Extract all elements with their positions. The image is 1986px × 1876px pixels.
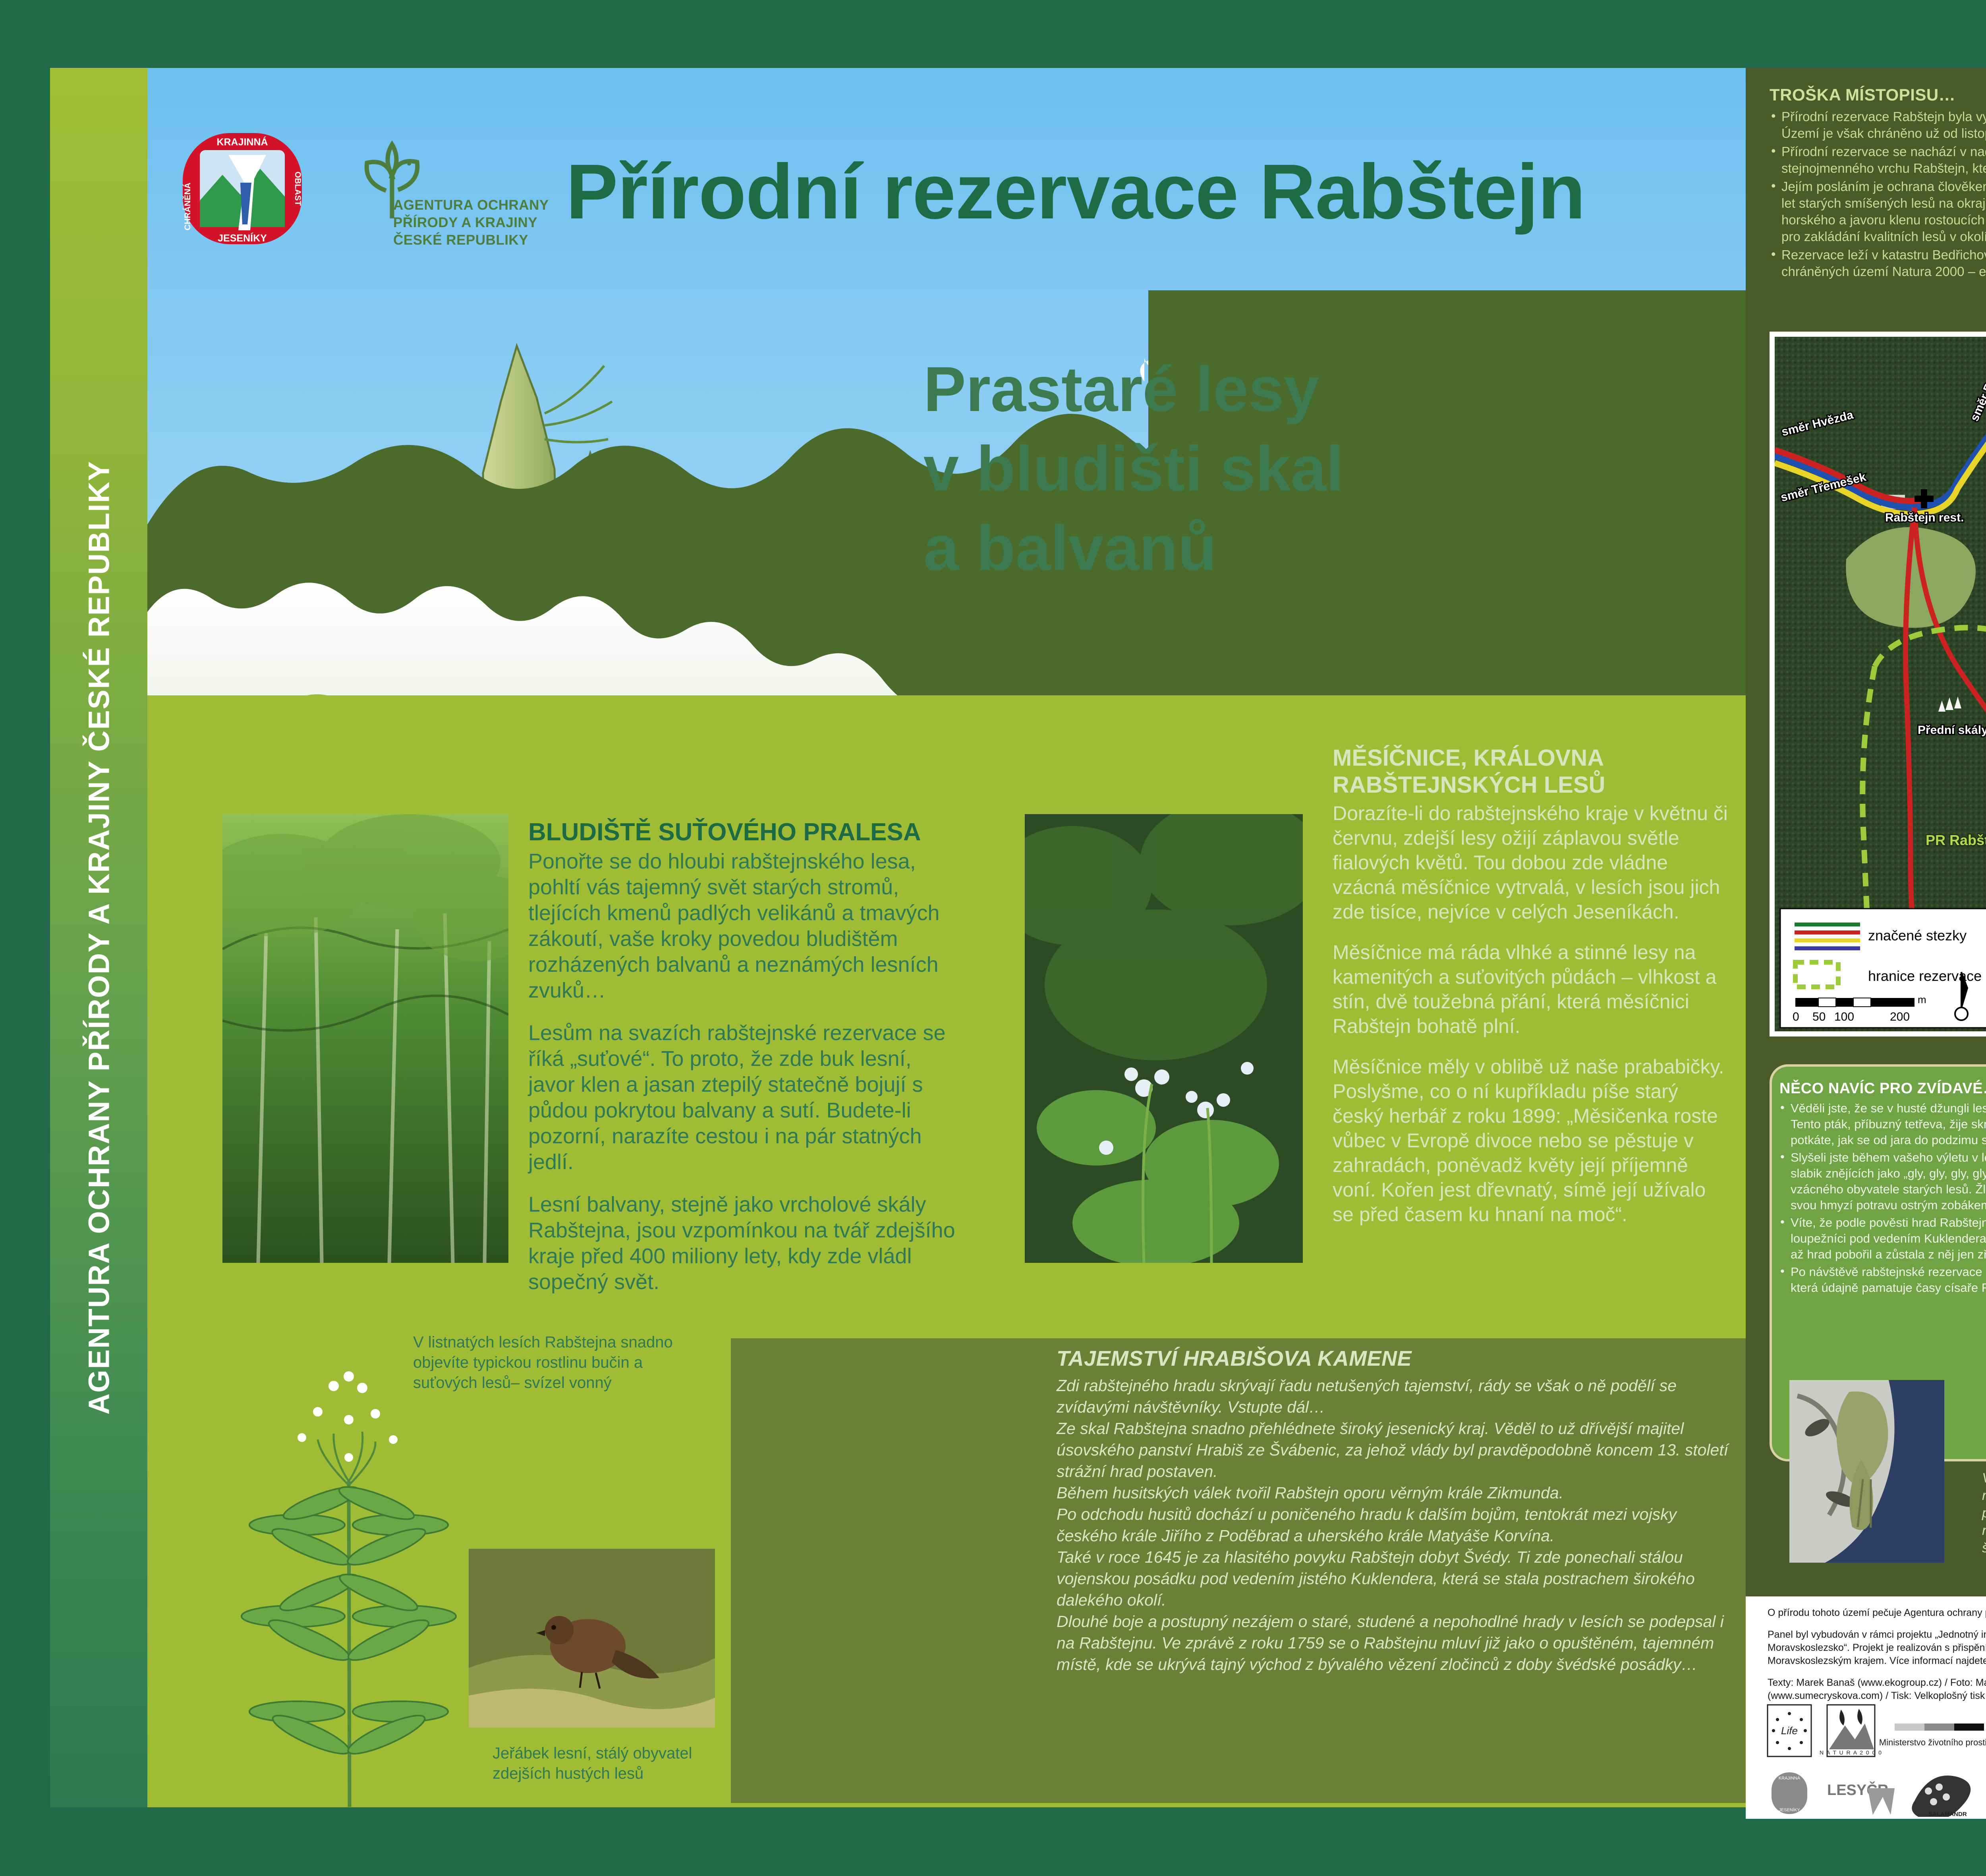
svg-text:CHRÁNĚNÁ: CHRÁNĚNÁ <box>183 183 192 230</box>
map-legend: značené stezky hranice rezervace m 05010… <box>1780 909 1986 1028</box>
footer-text: O přírodu tohoto území pečuje Agentura o… <box>1768 1606 1986 1711</box>
green-body-top-edge <box>147 652 1746 747</box>
column-mesicnice-p3: Měsíčnice měly v oblibě už naše prababič… <box>1333 1054 1730 1227</box>
tajemstvi-heading: TAJEMSTVÍ HRABIŠOVA KAMENE <box>1057 1346 1740 1371</box>
photo-beech-forest <box>222 814 508 1263</box>
page-title: Přírodní rezervace Rabštejn <box>566 147 1585 236</box>
photo-grey-headed-woodpecker <box>1789 1380 1944 1563</box>
heading-line-1: MĚSÍČNICE, KRÁLOVNA <box>1333 745 1604 771</box>
svg-text:Přední skály: Přední skály <box>1918 724 1986 737</box>
svg-text:Rabštejn rest.: Rabštejn rest. <box>1885 511 1964 524</box>
aerial-map[interactable]: směr Hvězda směr Třemešek směr Rýmařov R… <box>1775 337 1986 1031</box>
photo-lunaria-flower <box>1025 814 1303 1263</box>
svg-text:SALAMANDR: SALAMANDR <box>1928 1811 1967 1817</box>
footer-p2: Panel byl vybudován v rámci projektu „Je… <box>1768 1628 1986 1668</box>
svizel-vonny-illustration <box>238 1338 461 1807</box>
page-subtitle: Prastaré lesy v bludišti skal a balvanů <box>923 349 1344 588</box>
svg-text:m: m <box>1918 994 1926 1006</box>
svg-text:KRAJINNÁ: KRAJINNÁ <box>1779 1776 1801 1781</box>
column-mesicnice-heading: MĚSÍČNICE, KRÁLOVNA RABŠTEJNSKÝCH LESŮ <box>1333 745 1730 799</box>
svg-text:JESENÍKY: JESENÍKY <box>1779 1807 1800 1812</box>
svg-text:Ministerstvo životního prostře: Ministerstvo životního prostředí <box>1879 1737 1986 1747</box>
svg-text:200: 200 <box>1890 1010 1910 1023</box>
svg-text:Life: Life <box>1781 1725 1798 1737</box>
column-bludiste: BLUDIŠTĚ SUŤOVÉHO PRALESA Ponořte se do … <box>528 818 961 1312</box>
column-bludiste-p1: Ponořte se do hloubi rabštejnského lesa,… <box>528 849 961 1004</box>
curious-item: Věděli jste, že se v husté džungli lesa … <box>1779 1100 1986 1148</box>
svg-text:PR Rabštejn: PR Rabštejn <box>1926 832 1986 848</box>
footer-p3: Texty: Marek Banaš (www.ekogroup.cz) / F… <box>1768 1676 1986 1702</box>
caption-zluna: V zachovalých lesích rezervace Rabštejn … <box>1982 1469 1986 1557</box>
curious-heading: NĚCO NAVÍC PRO ZVÍDAVÉ… <box>1779 1080 1986 1097</box>
topography-heading: TROŠKA MÍSTOPISU… <box>1770 85 1986 104</box>
svg-text:značené stezky: značené stezky <box>1868 927 1967 944</box>
tajemstvi-p4: Po odchodu husitů dochází u poničeného h… <box>1057 1504 1740 1546</box>
topography-item: Přírodní rezervace se nachází v nadmořsk… <box>1770 143 1986 177</box>
curious-item: Slyšeli jste během vašeho výletu v lesíc… <box>1779 1150 1986 1213</box>
svg-text:OBLAST: OBLAST <box>293 172 302 206</box>
photo-hazel-grouse <box>469 1549 715 1727</box>
sponsor-logos: Life N A T U R A 2 0 0 0 Ministerstvo ži… <box>1764 1702 1986 1817</box>
tajemstvi-p6: Dlouhé boje a postupný nezájem o staré, … <box>1057 1611 1740 1675</box>
curious-text: NĚCO NAVÍC PRO ZVÍDAVÉ… Věděli jste, že … <box>1779 1080 1986 1297</box>
caption-svizel: V listnatých lesích Rabštejna snadno obj… <box>413 1332 707 1393</box>
left-vertical-strip: AGENTURA OCHRANY PŘÍRODY A KRAJINY ČESKÉ… <box>50 68 147 1807</box>
svg-text:JESENÍKY: JESENÍKY <box>218 232 267 244</box>
agency-vertical-label: AGENTURA OCHRANY PŘÍRODY A KRAJINY ČESKÉ… <box>82 461 116 1415</box>
topography-list: Přírodní rezervace Rabštejn byla vyhláše… <box>1770 108 1986 280</box>
heading-line-2: RABŠTEJNSKÝCH LESŮ <box>1333 772 1605 798</box>
column-mesicnice-p2: Měsíčnice má ráda vlhké a stinné lesy na… <box>1333 940 1730 1038</box>
tajemstvi-p3: Během husitských válek tvořil Rabštejn o… <box>1057 1482 1740 1504</box>
topography-item: Jejím posláním je ochrana člověkem málo … <box>1770 178 1986 245</box>
tajemstvi-p5: Také v roce 1645 je za hlasitého povyku … <box>1057 1546 1740 1611</box>
caption-jerabek: Jeřábek lesní, stálý obyvatel zdejších h… <box>493 1743 747 1784</box>
cloa-jeseniky-logo: KRAJINNÁ JESENÍKY CHRÁNĚNÁ OBLAST <box>181 131 304 246</box>
curious-item: Víte, že podle pověsti hrad Rabštejn pob… <box>1779 1215 1986 1262</box>
curious-list: Věděli jste, že se v husté džungli lesa … <box>1779 1100 1986 1296</box>
topography-item: Přírodní rezervace Rabštejn byla vyhláše… <box>1770 108 1986 142</box>
tajemstvi-p1: Zdi rabštejného hradu skrývají řadu netu… <box>1057 1375 1740 1418</box>
svg-text:100: 100 <box>1834 1010 1854 1023</box>
tajemstvi-text: TAJEMSTVÍ HRABIŠOVA KAMENE Zdi rabštejné… <box>1057 1346 1740 1675</box>
column-bludiste-p3: Lesní balvany, stejně jako vrcholové ská… <box>528 1192 961 1295</box>
column-bludiste-heading: BLUDIŠTĚ SUŤOVÉHO PRALESA <box>528 818 961 846</box>
svg-text:50: 50 <box>1812 1010 1826 1023</box>
column-mesicnice: MĚSÍČNICE, KRÁLOVNA RABŠTEJNSKÝCH LESŮ D… <box>1333 745 1730 1243</box>
svg-text:N A T U R A 2 0 0 0: N A T U R A 2 0 0 0 <box>1820 1749 1882 1756</box>
curious-item: Po návštěvě rabštejnské rezervace můžete… <box>1779 1264 1986 1296</box>
tajemstvi-p2: Ze skal Rabštejna snadno přehlédnete šir… <box>1057 1418 1740 1482</box>
column-mesicnice-p1: Dorazíte-li do rabštejnského kraje v kvě… <box>1333 801 1730 924</box>
topography-item: Rezervace leží v katastru Bedřichova u O… <box>1770 247 1986 280</box>
aopk-logo-text: AGENTURA OCHRANY PŘÍRODY A KRAJINY ČESKÉ… <box>393 197 549 249</box>
column-bludiste-p2: Lesům na svazích rabštejnské rezervace s… <box>528 1020 961 1175</box>
footer-p1: O přírodu tohoto území pečuje Agentura o… <box>1768 1606 1986 1619</box>
svg-text:0: 0 <box>1793 1010 1799 1023</box>
information-panel: AGENTURA OCHRANY PŘÍRODY A KRAJINY ČESKÉ… <box>0 0 1986 1876</box>
svg-text:KRAJINNÁ: KRAJINNÁ <box>216 136 268 148</box>
topography-block: TROŠKA MÍSTOPISU… Přírodní rezervace Rab… <box>1770 85 1986 282</box>
